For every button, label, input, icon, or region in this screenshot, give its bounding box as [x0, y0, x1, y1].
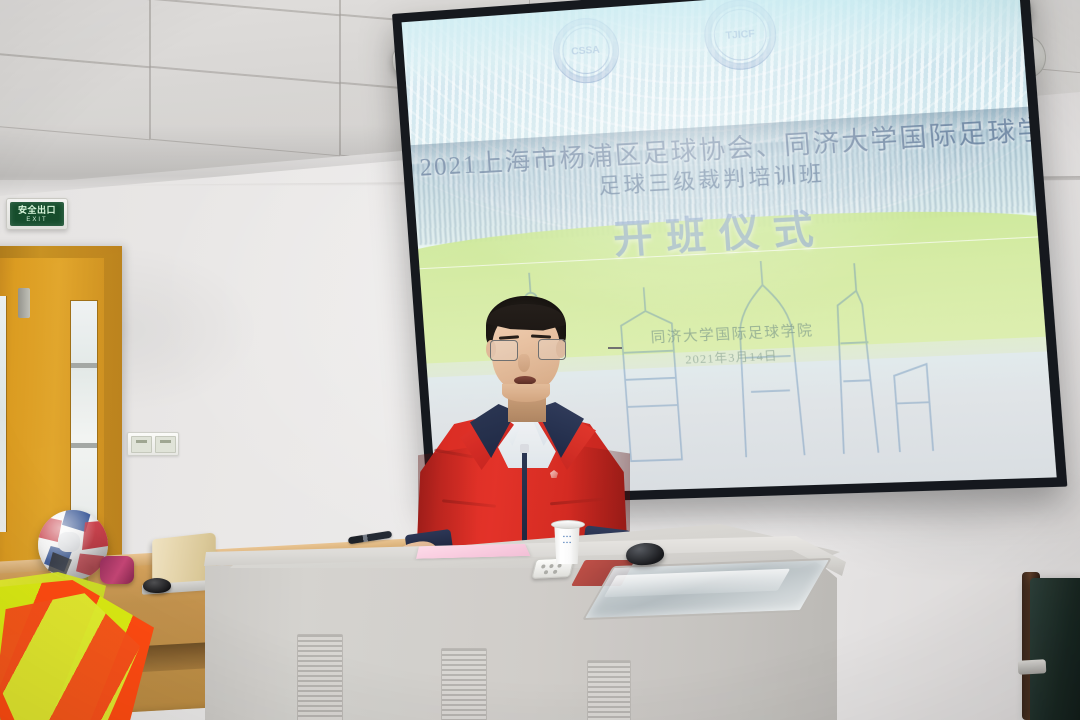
- chair[interactable]: [1030, 578, 1080, 720]
- door-glass-panel: [70, 300, 98, 530]
- lectern-vent-middle: [441, 648, 487, 720]
- lectern-vent-left: [297, 634, 343, 720]
- lectern-vent-right: [587, 660, 631, 720]
- chair-armrest: [1018, 659, 1047, 674]
- speaker: [398, 296, 628, 562]
- exit-sign-icon: 安全出口 EXIT: [6, 198, 68, 230]
- exit-sign-en-label: EXIT: [26, 217, 47, 223]
- wall-outlet[interactable]: [127, 432, 179, 456]
- nose: [518, 354, 530, 372]
- exit-sign-cn-label: 安全出口: [18, 206, 56, 215]
- computer-mouse-left[interactable]: [143, 578, 171, 593]
- door-hinge: [18, 288, 30, 318]
- screenshot-root: 安全出口 EXIT Redleaf: [0, 0, 1080, 720]
- slide-main-title: 开班仪式: [611, 196, 829, 264]
- jacket-zipper-pull: [520, 444, 529, 453]
- door-side-glass: [0, 296, 7, 532]
- flag-knot: [100, 556, 134, 584]
- paper-cup-print: ▪ ▪ ▪▪ ▪ ▪: [558, 534, 576, 554]
- chin: [502, 384, 550, 402]
- paper-cup-rim: [551, 520, 585, 529]
